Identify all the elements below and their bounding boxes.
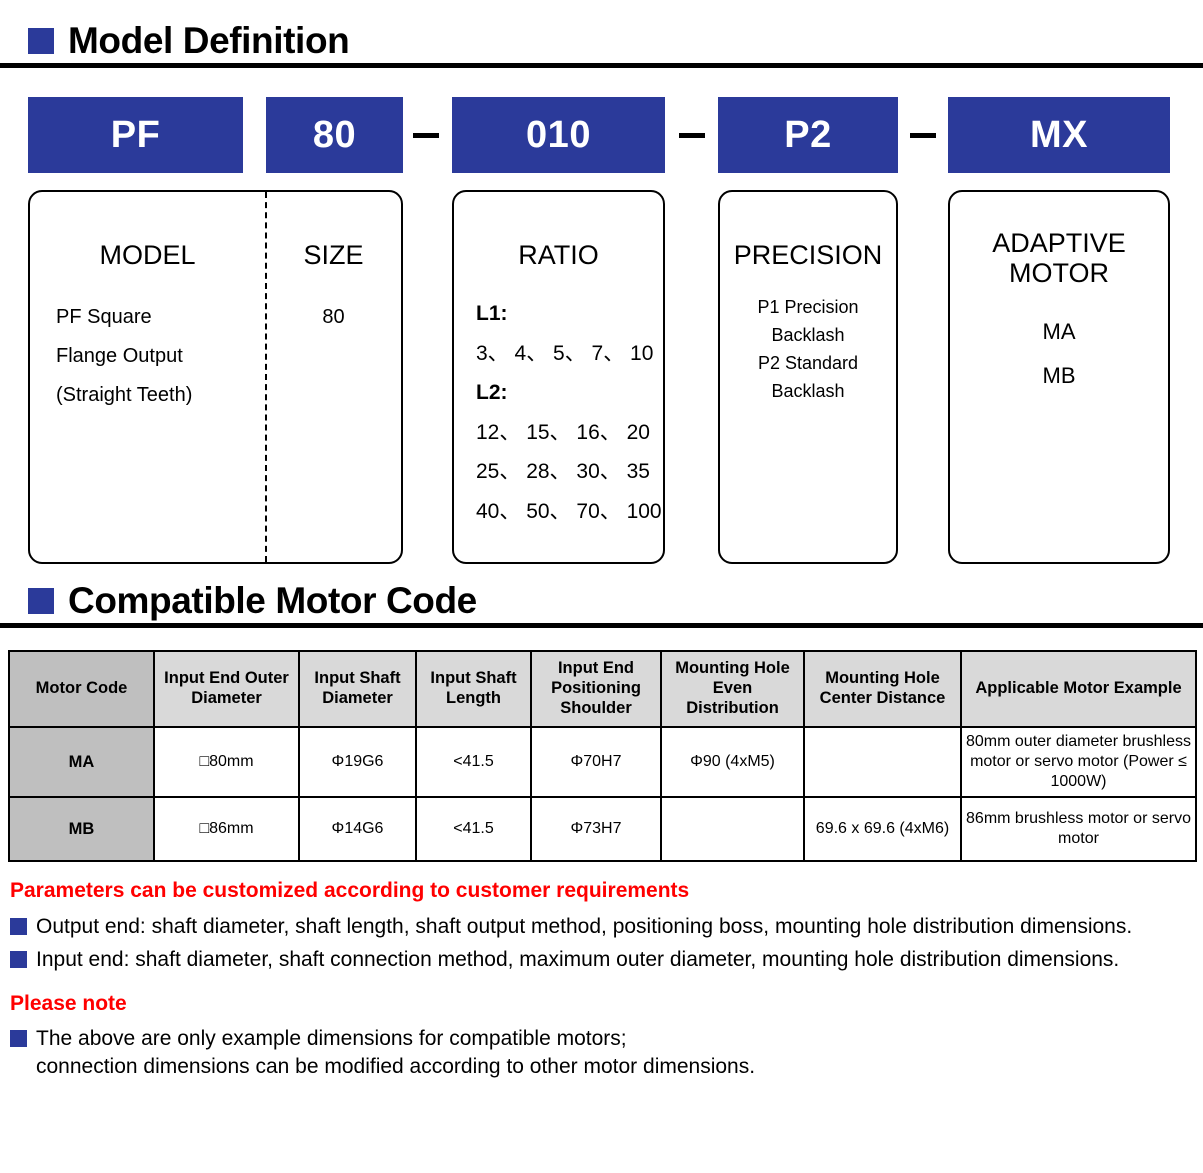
blue-square-bullet-icon [10, 918, 27, 935]
note-item-input-end: Input end: shaft diameter, shaft connect… [10, 946, 1203, 974]
note-text-input-end: Input end: shaft diameter, shaft connect… [36, 946, 1119, 974]
ratio-l2-values-line-3: 40、 50、 70、 100 [476, 492, 663, 531]
adaptive-motor-title-line-2: MOTOR [950, 258, 1168, 288]
model-column: MODEL PF Square Flange Output (Straight … [30, 192, 265, 562]
cell-shaft-length: <41.5 [416, 797, 531, 861]
cell-motor-code: MB [9, 797, 154, 861]
precision-option-p1: P1 Precision Backlash [720, 294, 896, 350]
header-mounting-hole-even-distribution: Mounting Hole Even Distribution [661, 651, 804, 727]
note-text-example-dimensions: The above are only example dimensions fo… [36, 1025, 755, 1080]
cell-hole-center-distance [804, 727, 961, 797]
ratio-card-title: RATIO [454, 240, 663, 270]
notes-section: Parameters can be customized according t… [0, 875, 1203, 1081]
precision-card-title: PRECISION [720, 240, 896, 270]
customization-note-title: Parameters can be customized according t… [10, 875, 1203, 907]
blue-square-bullet-icon [28, 588, 54, 614]
cell-motor-code: MA [9, 727, 154, 797]
cell-shaft-diameter: Φ19G6 [299, 727, 416, 797]
ratio-card-body: L1: 3、 4、 5、 7、 10 L2: 12、 15、 16、 20 25… [454, 294, 663, 531]
model-definition-heading: Model Definition [0, 22, 1203, 59]
header-input-shaft-length: Input Shaft Length [416, 651, 531, 727]
note-item-example-dimensions: The above are only example dimensions fo… [10, 1025, 1203, 1080]
model-code-row: PF 80 010 P2 MX [0, 97, 1203, 173]
cell-hole-even-distribution [661, 797, 804, 861]
compatible-motor-table: Motor Code Input End Outer Diameter Inpu… [8, 650, 1197, 862]
model-line-3: (Straight Teeth) [56, 376, 265, 415]
note-item-output-end: Output end: shaft diameter, shaft length… [10, 913, 1203, 941]
page-title: Model Definition [68, 22, 349, 59]
cell-hole-even-distribution: Φ90 (4xM5) [661, 727, 804, 797]
code-separator-dash-1 [413, 133, 439, 138]
code-box-precision: P2 [718, 97, 898, 173]
table-row: MA □80mm Φ19G6 <41.5 Φ70H7 Φ90 (4xM5) 80… [9, 727, 1196, 797]
cell-outer-diameter: □86mm [154, 797, 299, 861]
precision-option-p2: P2 Standard Backlash [720, 350, 896, 406]
adaptive-motor-option-ma: MA [950, 310, 1168, 354]
size-column: SIZE 80 [266, 192, 401, 562]
size-column-value: 80 [266, 298, 401, 337]
heading-rule-divider [0, 623, 1203, 628]
definition-cards-row: MODEL PF Square Flange Output (Straight … [0, 190, 1203, 564]
heading-rule-divider [0, 63, 1203, 68]
adaptive-motor-title-line-1: ADAPTIVE [950, 228, 1168, 258]
ratio-l2-values-line-2: 25、 28、 30、 35 [476, 452, 663, 491]
model-line-2: Flange Output [56, 337, 265, 376]
header-mounting-hole-center-distance: Mounting Hole Center Distance [804, 651, 961, 727]
ratio-l2-label: L2: [476, 373, 663, 412]
card-ratio: RATIO L1: 3、 4、 5、 7、 10 L2: 12、 15、 16、… [452, 190, 665, 564]
header-input-shaft-diameter: Input Shaft Diameter [299, 651, 416, 727]
header-motor-code: Motor Code [9, 651, 154, 727]
ratio-l1-values: 3、 4、 5、 7、 10 [476, 334, 663, 373]
card-model-size: MODEL PF Square Flange Output (Straight … [28, 190, 403, 564]
adaptive-motor-option-mb: MB [950, 354, 1168, 398]
cell-positioning-shoulder: Φ70H7 [531, 727, 661, 797]
table-header-row: Motor Code Input End Outer Diameter Inpu… [9, 651, 1196, 727]
cell-outer-diameter: □80mm [154, 727, 299, 797]
model-line-1: PF Square [56, 298, 265, 337]
blue-square-bullet-icon [10, 1030, 27, 1047]
cell-positioning-shoulder: Φ73H7 [531, 797, 661, 861]
table-row: MB □86mm Φ14G6 <41.5 Φ73H7 69.6 x 69.6 (… [9, 797, 1196, 861]
section-title-compatible-motor: Compatible Motor Code [68, 582, 477, 619]
code-box-model: PF [28, 97, 243, 173]
blue-square-bullet-icon [28, 28, 54, 54]
code-box-ratio: 010 [452, 97, 665, 173]
note-text-output-end: Output end: shaft diameter, shaft length… [36, 913, 1132, 941]
please-note-line-1: The above are only example dimensions fo… [36, 1027, 627, 1050]
header-input-end-outer-diameter: Input End Outer Diameter [154, 651, 299, 727]
notes-spacer [10, 974, 1203, 988]
precision-card-body: P1 Precision Backlash P2 Standard Backla… [720, 294, 896, 406]
ratio-l2-values-line-1: 12、 15、 16、 20 [476, 413, 663, 452]
model-column-body: PF Square Flange Output (Straight Teeth) [30, 298, 265, 415]
header-input-end-positioning-shoulder: Input End Positioning Shoulder [531, 651, 661, 727]
blue-square-bullet-icon [10, 951, 27, 968]
please-note-title: Please note [10, 988, 1203, 1020]
please-note-line-2: connection dimensions can be modified ac… [36, 1055, 755, 1078]
compatible-motor-heading: Compatible Motor Code [0, 582, 1203, 619]
code-separator-dash-3 [910, 133, 936, 138]
cell-shaft-diameter: Φ14G6 [299, 797, 416, 861]
motor-table-wrapper: Motor Code Input End Outer Diameter Inpu… [0, 650, 1203, 862]
adaptive-motor-card-body: MA MB [950, 310, 1168, 398]
ratio-l1-label: L1: [476, 294, 663, 333]
cell-hole-center-distance: 69.6 x 69.6 (4xM6) [804, 797, 961, 861]
code-box-adaptive-motor: MX [948, 97, 1170, 173]
cell-applicable-motor-example: 86mm brushless motor or servo motor [961, 797, 1196, 861]
adaptive-motor-card-title: ADAPTIVE MOTOR [950, 228, 1168, 288]
cell-shaft-length: <41.5 [416, 727, 531, 797]
cell-applicable-motor-example: 80mm outer diameter brushless motor or s… [961, 727, 1196, 797]
header-applicable-motor-example: Applicable Motor Example [961, 651, 1196, 727]
card-adaptive-motor: ADAPTIVE MOTOR MA MB [948, 190, 1170, 564]
model-column-title: MODEL [30, 240, 265, 270]
size-column-title: SIZE [266, 240, 401, 270]
card-precision: PRECISION P1 Precision Backlash P2 Stand… [718, 190, 898, 564]
code-box-size: 80 [266, 97, 403, 173]
code-separator-dash-2 [679, 133, 705, 138]
